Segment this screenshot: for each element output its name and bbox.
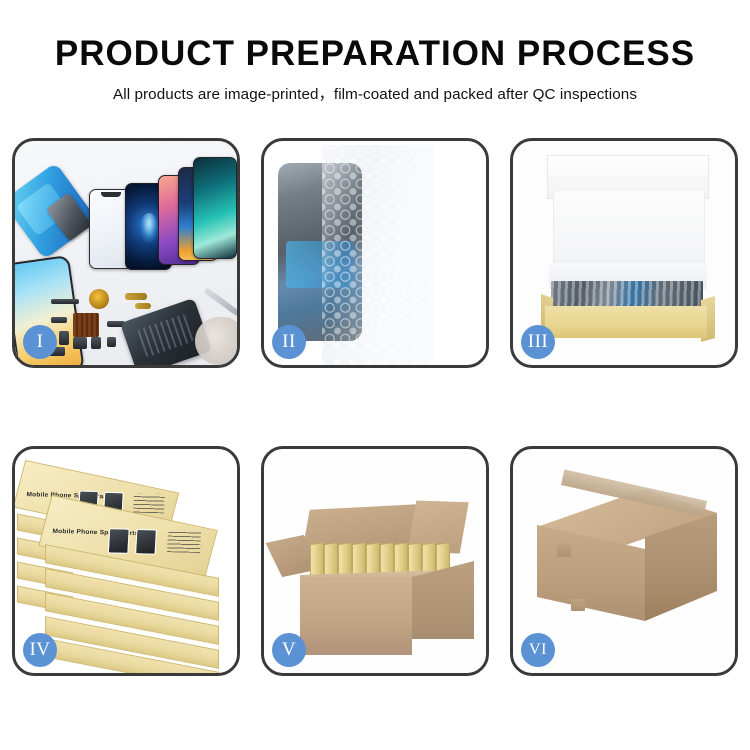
step-badge-4: IV [23,633,57,667]
plastic-sheen-overlay [322,145,434,365]
step-badge-2: II [272,325,306,359]
box-spec-lines-front [167,531,201,553]
flex-cable-part-b [135,303,151,309]
camera-part [73,337,87,349]
process-step-grid: I II III [12,138,738,676]
packed-product [551,281,703,309]
process-step-panel-3[interactable]: III [510,138,738,368]
process-step-panel-5[interactable]: V [261,446,489,676]
small-connector-part [51,317,67,323]
bracket-part-b [107,337,116,347]
step-badge-5: V [272,633,306,667]
step-4-image: Mobile Phone Spare Parts Mobile Phone Sp… [15,449,237,673]
speaker-coil-part [89,289,109,309]
process-step-panel-6[interactable]: VI [510,446,738,676]
phone-teal-gradient [193,157,237,259]
carton-front-face [300,577,412,655]
step-5-image: V [264,449,486,673]
step-badge-1: I [23,325,57,359]
circuit-board-part [73,313,99,337]
step-badge-6: VI [521,633,555,667]
page-subtitle: All products are image-printed，film-coat… [0,73,750,104]
process-step-panel-4[interactable]: Mobile Phone Spare Parts Mobile Phone Sp… [12,446,240,676]
carton-seam-mark-lower [571,599,585,611]
step-2-image: II [264,141,486,365]
vibrator-part [91,337,101,349]
step-6-image: VI [513,449,735,673]
process-step-panel-2[interactable]: II [261,138,489,368]
flex-cable-part-a [125,293,147,300]
process-step-panel-1[interactable]: I [12,138,240,368]
step-3-image: III [513,141,735,365]
box-spec-lines-back [133,493,165,513]
bracket-part-a [59,331,69,345]
box-art-screen-front-b [135,529,157,555]
technician-hand [195,317,237,365]
step-badge-3: III [521,325,555,359]
page-header: PRODUCT PREPARATION PROCESS All products… [0,0,750,104]
box-art-screen-front-a [108,528,130,554]
step-1-image: I [15,141,237,365]
flex-strip-part [51,299,79,304]
page-title: PRODUCT PREPARATION PROCESS [0,0,750,73]
carton-seam-mark-upper [557,543,571,557]
inner-box-front-wall [545,306,707,338]
